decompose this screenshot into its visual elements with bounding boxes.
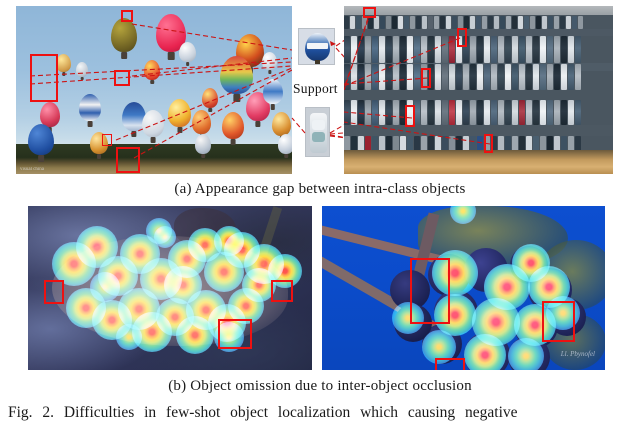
balloon (168, 99, 191, 127)
car (519, 64, 525, 90)
car (421, 36, 427, 63)
car (442, 36, 448, 63)
balloon (272, 112, 291, 136)
car (393, 64, 399, 90)
lot-sand-edge (344, 150, 613, 174)
bbox-missed-grape-3 (435, 358, 465, 370)
car (533, 36, 539, 63)
balloon (76, 62, 88, 77)
car (372, 64, 378, 90)
car (477, 36, 483, 63)
car (404, 16, 409, 29)
car (578, 16, 583, 29)
car (568, 100, 574, 125)
car (476, 16, 481, 29)
balloon (262, 52, 277, 70)
car (392, 16, 397, 29)
car (505, 64, 511, 90)
car (365, 36, 371, 63)
car (470, 100, 476, 125)
parking-lot-photo (344, 6, 613, 174)
balloon (192, 110, 211, 134)
heat-peak (508, 338, 544, 370)
heat-peak (90, 272, 120, 302)
car (575, 100, 581, 125)
figure-caption: Fig. 2. Difficulties in few-shot object … (8, 404, 632, 422)
car (547, 100, 553, 125)
support-patch-balloon (298, 28, 335, 65)
support-balloon-basket (315, 60, 320, 64)
heat-peak (464, 334, 506, 370)
bbox-car-2 (457, 28, 467, 47)
car (575, 64, 581, 90)
support-car-windshield (312, 132, 325, 142)
car (547, 64, 553, 90)
car (533, 64, 539, 90)
car (416, 16, 421, 29)
car (422, 16, 427, 29)
car (449, 36, 455, 63)
car (435, 64, 441, 90)
car (498, 36, 504, 63)
car (442, 64, 448, 90)
car (568, 64, 574, 90)
car (435, 36, 441, 63)
car-row (344, 36, 613, 63)
balloon (28, 124, 54, 155)
car (351, 100, 357, 125)
balloon (195, 134, 211, 154)
car (484, 64, 490, 90)
car (386, 100, 392, 125)
car (560, 16, 565, 29)
heat-peak (154, 226, 176, 248)
car (414, 64, 420, 90)
car (519, 36, 525, 63)
balloon (263, 79, 283, 104)
heat-peak (116, 324, 142, 350)
car (358, 36, 364, 63)
bbox-balloon-2 (121, 10, 133, 22)
car (434, 16, 439, 29)
car (435, 100, 441, 125)
bbox-missed-grape-1 (44, 280, 64, 304)
query-parking-lot-panel (344, 6, 613, 174)
car (344, 36, 350, 63)
car (491, 100, 497, 125)
bbox-missed-grape-2 (271, 280, 293, 302)
balloon (79, 94, 101, 121)
car (386, 36, 392, 63)
balloon (202, 88, 218, 108)
bbox-missed-grape-1 (410, 258, 450, 324)
car (380, 16, 385, 29)
car (428, 16, 433, 29)
bbox-missed-grape-2 (542, 301, 575, 342)
car (372, 36, 378, 63)
bbox-balloon-1 (30, 54, 58, 102)
car (400, 64, 406, 90)
car (393, 100, 399, 125)
car (421, 100, 427, 125)
car (540, 36, 546, 63)
car (442, 100, 448, 125)
car (407, 64, 413, 90)
car (561, 64, 567, 90)
bbox-car-5 (484, 134, 493, 153)
car (512, 16, 517, 29)
car (463, 64, 469, 90)
car (506, 16, 511, 29)
car (358, 64, 364, 90)
car-row (344, 100, 613, 125)
car (540, 64, 546, 90)
balloon (278, 134, 292, 154)
balloon (144, 60, 160, 80)
car (463, 100, 469, 125)
car (456, 100, 462, 125)
car (518, 16, 523, 29)
car (494, 16, 499, 29)
car (498, 64, 504, 90)
car (379, 36, 385, 63)
car (566, 16, 571, 29)
car (554, 36, 560, 63)
balloon (111, 18, 137, 52)
photo-watermark: visual china (20, 167, 44, 172)
car (482, 16, 487, 29)
balloons-photo: visual china (16, 6, 292, 174)
ground-treeline (16, 144, 292, 174)
car (470, 64, 476, 90)
car-row (344, 16, 613, 29)
car (358, 100, 364, 125)
car (505, 36, 511, 63)
car (526, 100, 532, 125)
balloon (220, 56, 253, 94)
car (512, 36, 518, 63)
car (548, 16, 553, 29)
car (561, 100, 567, 125)
car (446, 16, 451, 29)
lot-top-wall (344, 6, 613, 15)
photo-signature: Ll. Pbynofel (561, 350, 595, 358)
car (365, 64, 371, 90)
subfigure-b-caption: (b) Object omission due to inter-object … (0, 378, 640, 395)
car (344, 64, 350, 90)
car (393, 36, 399, 63)
car (524, 16, 529, 29)
car (540, 100, 546, 125)
car (351, 64, 357, 90)
car (484, 36, 490, 63)
balloon (56, 54, 71, 72)
car (477, 64, 483, 90)
bbox-missed-grape-3 (218, 319, 252, 349)
bbox-balloon-5 (116, 147, 140, 173)
car (449, 64, 455, 90)
query-balloons-panel: visual china (16, 6, 292, 174)
support-balloon-band (307, 43, 328, 49)
support-car-roof (312, 120, 325, 130)
car (449, 100, 455, 125)
bbox-balloon-4 (102, 134, 112, 146)
car (350, 16, 355, 29)
car (554, 100, 560, 125)
car (575, 36, 581, 63)
car (488, 16, 493, 29)
car (344, 100, 350, 125)
car (379, 64, 385, 90)
lot-aisle (344, 125, 613, 136)
heatmap-grapes-white-panel (28, 206, 312, 370)
car (491, 36, 497, 63)
car (398, 16, 403, 29)
figure-page: visual china Support (0, 0, 640, 422)
car (536, 16, 541, 29)
car (372, 100, 378, 125)
car (533, 100, 539, 125)
car (512, 64, 518, 90)
support-label: Support (293, 81, 338, 97)
heat-peak (214, 226, 244, 256)
car (526, 36, 532, 63)
car (386, 16, 391, 29)
car (512, 100, 518, 125)
car (470, 16, 475, 29)
bbox-balloon-3 (114, 70, 130, 86)
car (561, 36, 567, 63)
balloon (179, 42, 196, 62)
car (526, 64, 532, 90)
car (365, 100, 371, 125)
car (414, 36, 420, 63)
car (498, 100, 504, 125)
car (484, 100, 490, 125)
car (547, 36, 553, 63)
car (351, 36, 357, 63)
car (568, 36, 574, 63)
heatmap-grapes-purple-panel: Ll. Pbynofel (322, 206, 605, 370)
bbox-car-3 (421, 68, 431, 88)
car (386, 64, 392, 90)
car (477, 100, 483, 125)
car (400, 36, 406, 63)
balloon (222, 112, 244, 139)
car (554, 64, 560, 90)
lot-aisle (344, 29, 613, 36)
car (505, 100, 511, 125)
car (500, 16, 505, 29)
car-row (344, 64, 613, 90)
car (356, 16, 361, 29)
car (519, 100, 525, 125)
car (542, 16, 547, 29)
car (491, 64, 497, 90)
support-patch-car (305, 107, 330, 157)
car (410, 16, 415, 29)
lot-aisle (344, 90, 613, 100)
car (344, 16, 349, 29)
car (440, 16, 445, 29)
car (530, 16, 535, 29)
car (407, 36, 413, 63)
car (428, 36, 434, 63)
bbox-car-1 (363, 7, 376, 18)
car (470, 36, 476, 63)
bbox-car-4 (405, 105, 415, 127)
car (428, 100, 434, 125)
car (379, 100, 385, 125)
car (456, 64, 462, 90)
car (554, 16, 559, 29)
balloon (142, 110, 164, 137)
car (572, 16, 577, 29)
subfigure-a-caption: (a) Appearance gap between intra-class o… (0, 181, 640, 198)
